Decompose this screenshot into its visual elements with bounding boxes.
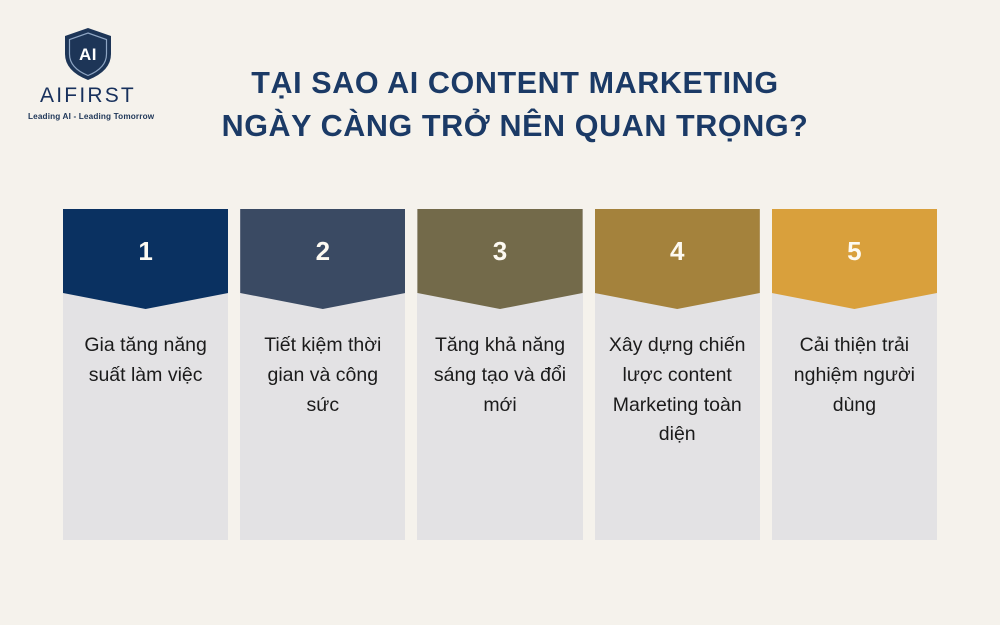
card-header: 2	[240, 209, 405, 309]
card-list: 1 Gia tăng năng suất làm việc 2 Tiết kiệ…	[63, 209, 937, 540]
card-body: Tiết kiệm thời gian và công sức	[240, 309, 405, 430]
card-item[interactable]: 3 Tăng khả năng sáng tạo và đổi mới	[417, 209, 582, 540]
card-item[interactable]: 4 Xây dựng chiến lược content Marketing …	[595, 209, 760, 540]
shield-icon-wrapper: AI	[28, 26, 148, 82]
svg-text:AI: AI	[79, 45, 97, 64]
card-text: Cải thiện trải nghiệm người dùng	[786, 331, 923, 420]
card-text: Gia tăng năng suất làm việc	[77, 331, 214, 391]
card-body: Gia tăng năng suất làm việc	[63, 309, 228, 401]
card-body: Xây dựng chiến lược content Marketing to…	[595, 309, 760, 460]
brand-name: AIFIRST	[28, 84, 148, 107]
card-body: Cải thiện trải nghiệm người dùng	[772, 309, 937, 430]
card-number: 2	[316, 238, 330, 264]
card-text: Tiết kiệm thời gian và công sức	[254, 331, 391, 420]
card-header: 5	[772, 209, 937, 309]
card-header: 3	[417, 209, 582, 309]
card-header: 4	[595, 209, 760, 309]
shield-ai-icon: AI	[61, 26, 115, 82]
card-item[interactable]: 2 Tiết kiệm thời gian và công sức	[240, 209, 405, 540]
card-number: 3	[493, 238, 507, 264]
page-title: TẠI SAO AI CONTENT MARKETING NGÀY CÀNG T…	[170, 62, 860, 149]
page-title-line-2: NGÀY CÀNG TRỞ NÊN QUAN TRỌNG?	[170, 105, 860, 148]
card-text: Xây dựng chiến lược content Marketing to…	[609, 331, 746, 450]
page-title-line-1: TẠI SAO AI CONTENT MARKETING	[170, 62, 860, 105]
brand-logo-block: AI AIFIRST Leading AI - Leading Tomorrow	[28, 26, 148, 121]
card-number: 4	[670, 238, 684, 264]
brand-tagline: Leading AI - Leading Tomorrow	[28, 112, 148, 121]
card-number: 1	[138, 238, 152, 264]
card-number: 5	[847, 238, 861, 264]
card-header: 1	[63, 209, 228, 309]
card-text: Tăng khả năng sáng tạo và đổi mới	[431, 331, 568, 420]
card-item[interactable]: 1 Gia tăng năng suất làm việc	[63, 209, 228, 540]
card-body: Tăng khả năng sáng tạo và đổi mới	[417, 309, 582, 430]
card-item[interactable]: 5 Cải thiện trải nghiệm người dùng	[772, 209, 937, 540]
